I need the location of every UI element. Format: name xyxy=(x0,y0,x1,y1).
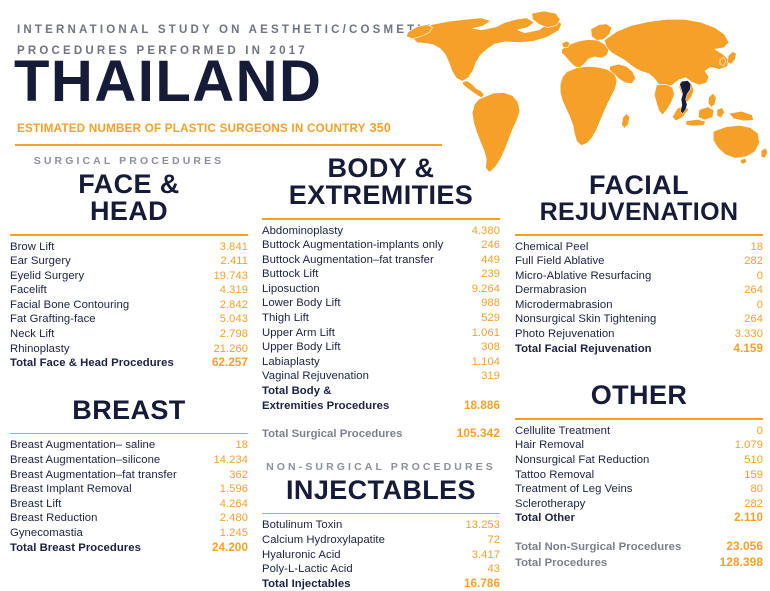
row-label: Gynecomastia xyxy=(10,526,196,541)
table-row: Facelift 4.319 xyxy=(10,283,248,298)
table-row: Microdermabrasion 0 xyxy=(515,298,763,313)
row-label: Treatment of Leg Veins xyxy=(515,482,703,497)
row-value: 3.841 xyxy=(186,240,248,255)
table-row-grand-total: Total Surgical Procedures 105.342 xyxy=(262,426,500,442)
row-label: Micro-Ablative Resurfacing xyxy=(515,269,703,284)
row-value: 80 xyxy=(703,482,763,497)
table-row: Micro-Ablative Resurfacing 0 xyxy=(515,269,763,284)
row-value: 0 xyxy=(703,424,763,439)
row-label: Fat Grafting-face xyxy=(10,312,186,327)
table-row: Breast Lift 4.264 xyxy=(10,497,248,512)
grand-total-label: Total Non-Surgical Procedures xyxy=(515,539,699,555)
page-title: THAILAND xyxy=(14,53,322,111)
row-label: Lower Body Lift xyxy=(262,296,452,311)
table-row: Breast Augmentation– saline 18 xyxy=(10,438,248,453)
table-row: Facial Bone Contouring 2.842 xyxy=(10,298,248,313)
section-title-facial-rejuvenation-line-1: FACIAL xyxy=(515,172,763,199)
table-row: Breast Augmentation–silicone 14.234 xyxy=(10,453,248,468)
estimated-surgeons-row: ESTIMATED NUMBER OF PLASTIC SURGEONS IN … xyxy=(17,119,391,137)
section-divider-other xyxy=(515,418,763,420)
row-label: Neck Lift xyxy=(10,327,186,342)
row-value: 2.411 xyxy=(186,254,248,269)
row-label: Facelift xyxy=(10,283,186,298)
row-value: 4.264 xyxy=(196,497,248,512)
table-row: Photo Rejuvenation 3.330 xyxy=(515,327,763,342)
table-row: Breast Augmentation–fat transfer 362 xyxy=(10,468,248,483)
total-value: 16.786 xyxy=(443,577,500,591)
row-label: Upper Body Lift xyxy=(262,340,452,355)
row-label: Abdominoplasty xyxy=(262,224,452,239)
table-row: Poly-L-Lactic Acid 43 xyxy=(262,562,500,577)
row-label: Upper Arm Lift xyxy=(262,326,452,341)
row-value: 2.480 xyxy=(196,511,248,526)
table-row-total: Total Injectables 16.786 xyxy=(262,577,500,591)
row-label: Hair Removal xyxy=(515,438,703,453)
section-injectables: NON-SURGICAL PROCEDURES INJECTABLES Botu… xyxy=(262,461,500,591)
row-value: 43 xyxy=(443,562,500,577)
table-row-total: Total Face & Head Procedures 62.257 xyxy=(10,356,248,371)
section-title-body-extremities-line-2: EXTREMITIES xyxy=(262,182,500,209)
table-row-total: Total Facial Rejuvenation 4.159 xyxy=(515,342,763,357)
row-value: 72 xyxy=(443,533,500,548)
table-row: Ear Surgery 2.411 xyxy=(10,254,248,269)
study-kicker-line-1: INTERNATIONAL STUDY ON AESTHETIC/COSMETI… xyxy=(17,24,435,36)
tasmania xyxy=(740,158,747,164)
total-label-line-1: Total Body & xyxy=(262,384,452,399)
table-row-total: Total Breast Procedures 24.200 xyxy=(10,541,248,556)
table-row: Cellulite Treatment 0 xyxy=(515,424,763,439)
estimated-surgeons-count: 350 xyxy=(370,121,391,135)
grand-total-value: 23.056 xyxy=(699,539,763,555)
central-america xyxy=(462,81,484,98)
table-row: Tattoo Removal 159 xyxy=(515,468,763,483)
row-label: Breast Reduction xyxy=(10,511,196,526)
row-label: Rhinoplasty xyxy=(10,342,186,357)
row-value: 1.061 xyxy=(452,326,500,341)
row-value: 1.079 xyxy=(703,438,763,453)
row-label: Ear Surgery xyxy=(10,254,186,269)
grand-total-value: 105.342 xyxy=(448,426,500,442)
row-value: 510 xyxy=(703,453,763,468)
table-row-grand-total: Total Non-Surgical Procedures 23.056 xyxy=(515,539,763,555)
row-value: 988 xyxy=(452,296,500,311)
table-row: Breast Reduction 2.480 xyxy=(10,511,248,526)
table-row: Brow Lift 3.841 xyxy=(10,240,248,255)
row-value: 13.253 xyxy=(443,518,500,533)
japan xyxy=(727,51,736,64)
table-breast: Breast Augmentation– saline 18 Breast Au… xyxy=(10,438,248,555)
table-row-total: Total Other 2.110 xyxy=(515,511,763,526)
row-value: 449 xyxy=(452,253,500,268)
row-value: 362 xyxy=(196,468,248,483)
table-row: Botulinum Toxin 13.253 xyxy=(262,518,500,533)
table-row: Upper Body Lift 308 xyxy=(262,340,500,355)
table-row: Calcium Hydroxylapatite 72 xyxy=(262,533,500,548)
row-label: Nonsurgical Fat Reduction xyxy=(515,453,703,468)
section-divider-body-extremities xyxy=(262,218,500,220)
total-label: Total Face & Head Procedures xyxy=(10,356,186,371)
table-injectables: Botulinum Toxin 13.253 Calcium Hydroxyla… xyxy=(262,518,500,591)
table-row: Hair Removal 1.079 xyxy=(515,438,763,453)
column-right: FACIAL REJUVENATION Chemical Peel 18 Ful… xyxy=(515,172,763,570)
section-divider-face-head xyxy=(10,234,248,236)
table-face-head: Brow Lift 3.841 Ear Surgery 2.411 Eyelid… xyxy=(10,240,248,371)
table-facial-rejuvenation: Chemical Peel 18 Full Field Ablative 282… xyxy=(515,240,763,357)
row-value: 14.234 xyxy=(196,453,248,468)
row-label: Buttock Lift xyxy=(262,267,452,282)
total-label: Total Injectables xyxy=(262,577,443,591)
table-row: Abdominoplasty 4.380 xyxy=(262,224,500,239)
spacer xyxy=(10,371,248,397)
total-value: 4.159 xyxy=(703,342,763,357)
table-row: Fat Grafting-face 5.043 xyxy=(10,312,248,327)
row-value: 5.043 xyxy=(186,312,248,327)
table-row: Labiaplasty 1.104 xyxy=(262,355,500,370)
section-other: OTHER Cellulite Treatment 0 Hair Removal… xyxy=(515,382,763,526)
section-title-face-head-line-1: FACE & xyxy=(10,171,248,198)
total-label-line-2: Extremities Procedures xyxy=(262,399,452,414)
table-row: Vaginal Rejuvenation 319 xyxy=(262,369,500,384)
table-row: Lower Body Lift 988 xyxy=(262,296,500,311)
row-label: Vaginal Rejuvenation xyxy=(262,369,452,384)
row-label: Hyaluronic Acid xyxy=(262,548,443,563)
grand-total-value: 128.398 xyxy=(699,555,763,571)
table-row: Gynecomastia 1.245 xyxy=(10,526,248,541)
total-value: 18.886 xyxy=(452,399,500,414)
estimated-surgeons-label: ESTIMATED NUMBER OF PLASTIC SURGEONS IN … xyxy=(17,122,366,135)
row-label: Breast Augmentation–fat transfer xyxy=(10,468,196,483)
total-value: 62.257 xyxy=(186,356,248,371)
new-guinea xyxy=(729,111,754,121)
row-value: 18 xyxy=(703,240,763,255)
total-label: Total Breast Procedures xyxy=(10,541,196,556)
java xyxy=(686,119,706,126)
row-value: 264 xyxy=(703,312,763,327)
table-row: Chemical Peel 18 xyxy=(515,240,763,255)
world-landmasses xyxy=(406,11,767,172)
table-row-grand-total: Total Procedures 128.398 xyxy=(515,555,763,571)
row-value: 246 xyxy=(452,238,500,253)
row-value: 1.596 xyxy=(196,482,248,497)
row-value: 18 xyxy=(196,438,248,453)
table-row: Treatment of Leg Veins 80 xyxy=(515,482,763,497)
row-value: 319 xyxy=(452,369,500,384)
grand-total-label: Total Surgical Procedures xyxy=(262,426,448,442)
row-value: 308 xyxy=(452,340,500,355)
row-value: 529 xyxy=(452,311,500,326)
section-divider-breast xyxy=(10,433,248,435)
row-label: Eyelid Surgery xyxy=(10,269,186,284)
sulawesi xyxy=(717,107,724,117)
row-label: Buttock Augmentation–fat transfer xyxy=(262,253,452,268)
section-title-body-extremities-line-1: BODY & xyxy=(262,155,500,182)
row-label: Dermabrasion xyxy=(515,283,703,298)
section-divider-facial-rejuvenation xyxy=(515,234,763,236)
india xyxy=(654,84,674,115)
section-title-face-head-line-2: HEAD xyxy=(10,198,248,225)
table-row: Liposuction 9.264 xyxy=(262,282,500,297)
row-value: 282 xyxy=(703,497,763,512)
table-row: Buttock Lift 239 xyxy=(262,267,500,282)
total-value: 2.110 xyxy=(703,511,763,526)
row-label: Tattoo Removal xyxy=(515,468,703,483)
row-label: Photo Rejuvenation xyxy=(515,327,703,342)
new-zealand xyxy=(761,148,768,158)
table-body-extremities: Abdominoplasty 4.380 Buttock Augmentatio… xyxy=(262,224,500,414)
table-row: Nonsurgical Skin Tightening 264 xyxy=(515,312,763,327)
spacer xyxy=(515,356,763,382)
table-row: Thigh Lift 529 xyxy=(262,311,500,326)
row-label: Thigh Lift xyxy=(262,311,452,326)
table-row: Nonsurgical Fat Reduction 510 xyxy=(515,453,763,468)
table-row: Neck Lift 2.798 xyxy=(10,327,248,342)
grand-total-label: Total Procedures xyxy=(515,555,699,571)
table-row: Breast Implant Removal 1.596 xyxy=(10,482,248,497)
row-label: Sclerotherapy xyxy=(515,497,703,512)
row-value: 0 xyxy=(703,269,763,284)
row-value: 3.417 xyxy=(443,548,500,563)
total-value: 24.200 xyxy=(196,541,248,556)
madagascar xyxy=(621,113,629,128)
row-value: 2.798 xyxy=(186,327,248,342)
north-america xyxy=(412,18,561,81)
section-face-head: SURGICAL PROCEDURES FACE & HEAD Brow Lif… xyxy=(10,155,248,371)
table-row-total: Total Body & xyxy=(262,384,500,399)
row-value: 21.260 xyxy=(186,342,248,357)
row-value: 239 xyxy=(452,267,500,282)
row-value: 0 xyxy=(703,298,763,313)
section-title-breast: BREAST xyxy=(10,397,248,424)
row-label: Breast Lift xyxy=(10,497,196,512)
table-other: Cellulite Treatment 0 Hair Removal 1.079… xyxy=(515,424,763,526)
section-breast: BREAST Breast Augmentation– saline 18 Br… xyxy=(10,397,248,555)
section-title-other: OTHER xyxy=(515,382,763,409)
total-label: Total Other xyxy=(515,511,703,526)
section-body-extremities: BODY & EXTREMITIES Abdominoplasty 4.380 … xyxy=(262,155,500,413)
row-label: Chemical Peel xyxy=(515,240,703,255)
total-label: Total Facial Rejuvenation xyxy=(515,342,703,357)
row-value: 9.264 xyxy=(452,282,500,297)
row-label: Breast Augmentation–silicone xyxy=(10,453,196,468)
table-row: Buttock Augmentation-implants only 246 xyxy=(262,238,500,253)
row-label: Full Field Ablative xyxy=(515,254,703,269)
row-label: Buttock Augmentation-implants only xyxy=(262,238,452,253)
greenland xyxy=(532,11,560,27)
row-label: Breast Augmentation– saline xyxy=(10,438,196,453)
table-row: Hyaluronic Acid 3.417 xyxy=(262,548,500,563)
row-value: 3.330 xyxy=(703,327,763,342)
row-label: Liposuction xyxy=(262,282,452,297)
table-row: Eyelid Surgery 19.743 xyxy=(10,269,248,284)
philippines xyxy=(708,93,716,107)
row-value: 1.245 xyxy=(196,526,248,541)
row-value: 19.743 xyxy=(186,269,248,284)
row-label: Brow Lift xyxy=(10,240,186,255)
grand-totals-block: Total Non-Surgical Procedures 23.056 Tot… xyxy=(515,539,763,570)
table-row-total: Extremities Procedures 18.886 xyxy=(262,399,500,414)
table-row: Dermabrasion 264 xyxy=(515,283,763,298)
row-label: Botulinum Toxin xyxy=(262,518,443,533)
section-title-injectables: INJECTABLES xyxy=(262,477,500,504)
africa xyxy=(560,66,617,145)
row-label: Poly-L-Lactic Acid xyxy=(262,562,443,577)
eyebrow-non-surgical-procedures: NON-SURGICAL PROCEDURES xyxy=(262,461,500,473)
row-label: Calcium Hydroxylapatite xyxy=(262,533,443,548)
row-label: Cellulite Treatment xyxy=(515,424,703,439)
table-row: Upper Arm Lift 1.061 xyxy=(262,326,500,341)
row-value: 1.104 xyxy=(452,355,500,370)
table-row: Full Field Ablative 282 xyxy=(515,254,763,269)
row-label: Microdermabrasion xyxy=(515,298,703,313)
row-label: Facial Bone Contouring xyxy=(10,298,186,313)
section-title-facial-rejuvenation-line-2: REJUVENATION xyxy=(515,199,763,225)
row-value: 159 xyxy=(703,468,763,483)
column-middle: BODY & EXTREMITIES Abdominoplasty 4.380 … xyxy=(262,155,500,591)
table-row: Sclerotherapy 282 xyxy=(515,497,763,512)
column-left: SURGICAL PROCEDURES FACE & HEAD Brow Lif… xyxy=(10,155,248,555)
spacer xyxy=(262,442,500,461)
row-label: Labiaplasty xyxy=(262,355,452,370)
table-row: Rhinoplasty 21.260 xyxy=(10,342,248,357)
row-value: 264 xyxy=(703,283,763,298)
section-divider-injectables xyxy=(262,513,500,515)
row-value: 282 xyxy=(703,254,763,269)
australia xyxy=(713,125,759,158)
table-row: Buttock Augmentation–fat transfer 449 xyxy=(262,253,500,268)
row-value: 2.842 xyxy=(186,298,248,313)
row-label: Nonsurgical Skin Tightening xyxy=(515,312,703,327)
header-divider xyxy=(15,144,442,146)
eyebrow-surgical-procedures: SURGICAL PROCEDURES xyxy=(10,155,248,167)
section-facial-rejuvenation: FACIAL REJUVENATION Chemical Peel 18 Ful… xyxy=(515,172,763,356)
grand-total-surgical: Total Surgical Procedures 105.342 xyxy=(262,426,500,442)
row-label: Breast Implant Removal xyxy=(10,482,196,497)
row-value: 4.319 xyxy=(186,283,248,298)
borneo xyxy=(698,107,714,120)
total-value-spacer xyxy=(452,384,500,399)
row-value: 4.380 xyxy=(452,224,500,239)
